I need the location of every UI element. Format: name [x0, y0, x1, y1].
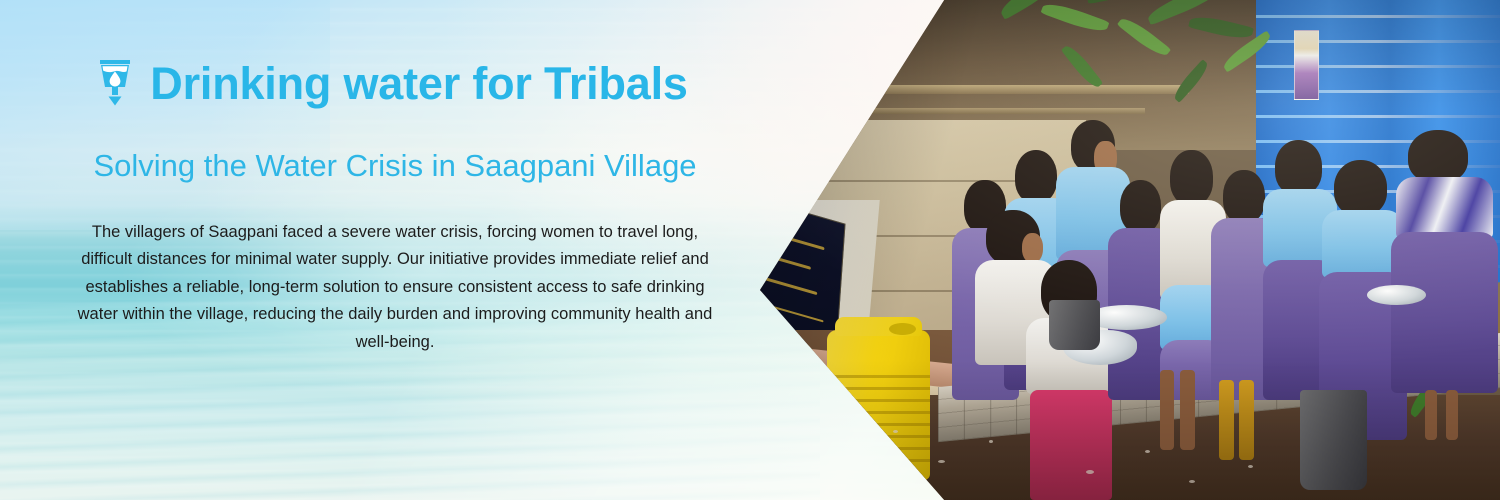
title-row: Drinking water for Tribals: [96, 58, 687, 110]
text-panel: Drinking water for Tribals Solving the W…: [0, 0, 790, 500]
page-body-text: The villagers of Saagpani faced a severe…: [75, 219, 715, 356]
hero-banner: Drinking water for Tribals Solving the W…: [0, 0, 1500, 500]
water-glass-droplet-icon: [96, 58, 134, 110]
page-subtitle: Solving the Water Crisis in Saagpani Vil…: [93, 144, 696, 188]
page-title: Drinking water for Tribals: [150, 60, 687, 107]
